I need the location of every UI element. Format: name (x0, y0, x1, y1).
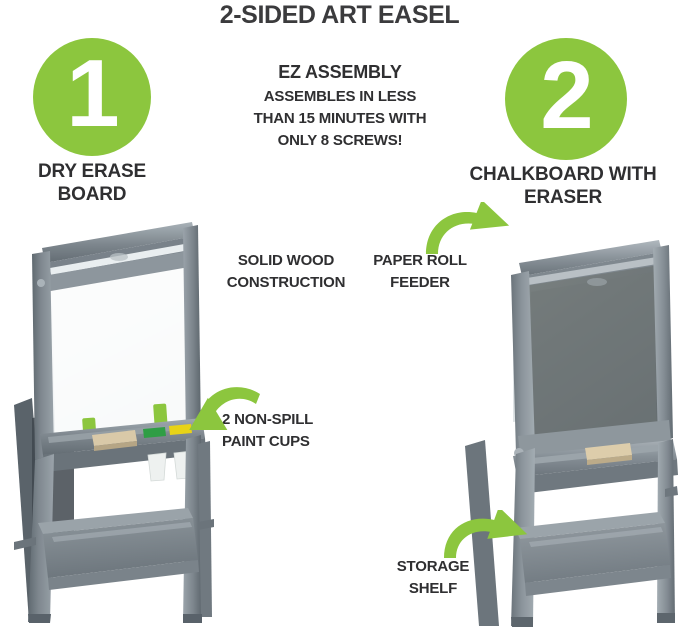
badge-label-1-line1: DRY ERASE (8, 160, 176, 183)
center-feature-block: EZ ASSEMBLY ASSEMBLES IN LESS THAN 15 MI… (225, 62, 455, 153)
badge-label-2-line1: CHALKBOARD WITH (447, 163, 679, 186)
foot-left (511, 617, 533, 627)
callout-paper-roll-line2: FEEDER (365, 272, 475, 294)
brand-logo (587, 278, 607, 286)
foot-left (28, 614, 51, 623)
center-feature-heading: EZ ASSEMBLY (225, 62, 455, 83)
frame-knob (37, 279, 45, 287)
badge-number-1: 1 (66, 46, 117, 142)
dry-erase-easel-illustration (2, 222, 217, 633)
infographic-canvas: 2-SIDED ART EASEL 1 DRY ERASE BOARD 2 CH… (0, 0, 679, 633)
page-title: 2-SIDED ART EASEL (0, 2, 679, 30)
center-feature-line-3: ONLY 8 SCREWS! (225, 130, 455, 152)
foot-right (657, 613, 675, 623)
callout-solid-wood-line2: CONSTRUCTION (211, 272, 361, 294)
foot-right (183, 614, 202, 623)
callout-solid-wood-line1: SOLID WOOD (238, 252, 334, 269)
badge-label-1-line2: BOARD (8, 183, 176, 206)
chalkboard-sheen (531, 272, 657, 446)
paint-cup-left (148, 453, 166, 481)
brand-logo (110, 253, 128, 261)
badge-circle-1: 1 (33, 38, 151, 156)
center-feature-line-2: THAN 15 MINUTES WITH (225, 108, 455, 130)
badge-circle-2: 2 (505, 38, 627, 160)
center-feature-line-1: ASSEMBLES IN LESS (225, 86, 455, 108)
arrow-paper-roll-feeder (418, 202, 528, 260)
badge-label-1: DRY ERASE BOARD (8, 160, 176, 206)
badge-number-2: 2 (540, 48, 591, 144)
callout-solid-wood-construction: SOLID WOOD CONSTRUCTION (211, 250, 361, 294)
arrow-paint-cups (186, 384, 266, 446)
arrow-storage-shelf (440, 510, 540, 568)
callout-storage-shelf-line2: SHELF (378, 578, 488, 600)
